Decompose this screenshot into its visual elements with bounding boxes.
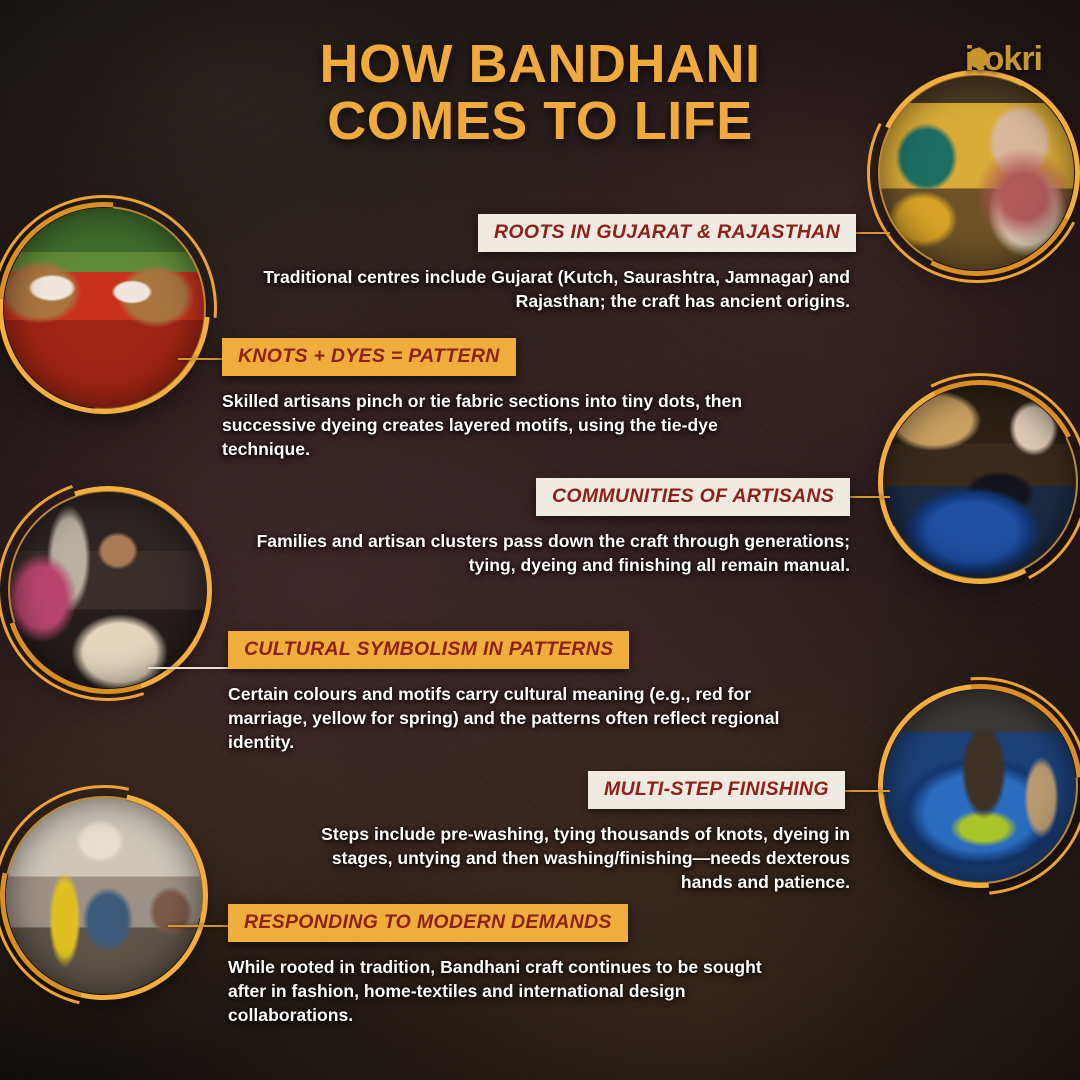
section-heading-chip: KNOTS + DYES = PATTERN <box>222 338 516 376</box>
section-body-text: Steps include pre-washing, tying thousan… <box>320 823 850 895</box>
title-line-1: HOW BANDHANI <box>320 34 761 94</box>
section-responding-to-modern-demands: RESPONDING TO MODERN DEMANDS While roote… <box>228 904 798 1028</box>
section-cultural-symbolism-in-patterns: CULTURAL SYMBOLISM IN PATTERNS Certain c… <box>228 631 788 755</box>
section-body-text: Certain colours and motifs carry cultura… <box>228 683 788 755</box>
section-knots-dyes-pattern: KNOTS + DYES = PATTERN Skilled artisans … <box>222 338 770 462</box>
section-body-text: Skilled artisans pinch or tie fabric sec… <box>222 390 770 462</box>
section-heading-chip: MULTI-STEP FINISHING <box>588 771 845 809</box>
section-communities-of-artisans: COMMUNITIES OF ARTISANS Families and art… <box>230 478 850 578</box>
section-heading-chip: RESPONDING TO MODERN DEMANDS <box>228 904 628 942</box>
section-body-text: Families and artisan clusters pass down … <box>230 530 850 578</box>
section-body-text: While rooted in tradition, Bandhani craf… <box>228 956 798 1028</box>
section-heading-chip: COMMUNITIES OF ARTISANS <box>536 478 850 516</box>
section-heading-chip: CULTURAL SYMBOLISM IN PATTERNS <box>228 631 629 669</box>
page-title: HOW BANDHANI COMES TO LIFE <box>210 36 870 150</box>
content-layer: HOW BANDHANI COMES TO LIFE itokri ROOTS … <box>0 0 1080 1080</box>
section-heading-chip: ROOTS IN GUJARAT & RAJASTHAN <box>478 214 856 252</box>
section-roots-in-gujarat-rajasthan: ROOTS IN GUJARAT & RAJASTHAN Traditional… <box>250 214 850 314</box>
section-multi-step-finishing: MULTI-STEP FINISHING Steps include pre-w… <box>320 771 850 895</box>
infographic-poster: HOW BANDHANI COMES TO LIFE itokri ROOTS … <box>0 0 1080 1080</box>
itokri-logo: itokri <box>965 40 1042 79</box>
title-line-2: COMES TO LIFE <box>210 93 870 150</box>
section-body-text: Traditional centres include Gujarat (Kut… <box>250 266 850 314</box>
